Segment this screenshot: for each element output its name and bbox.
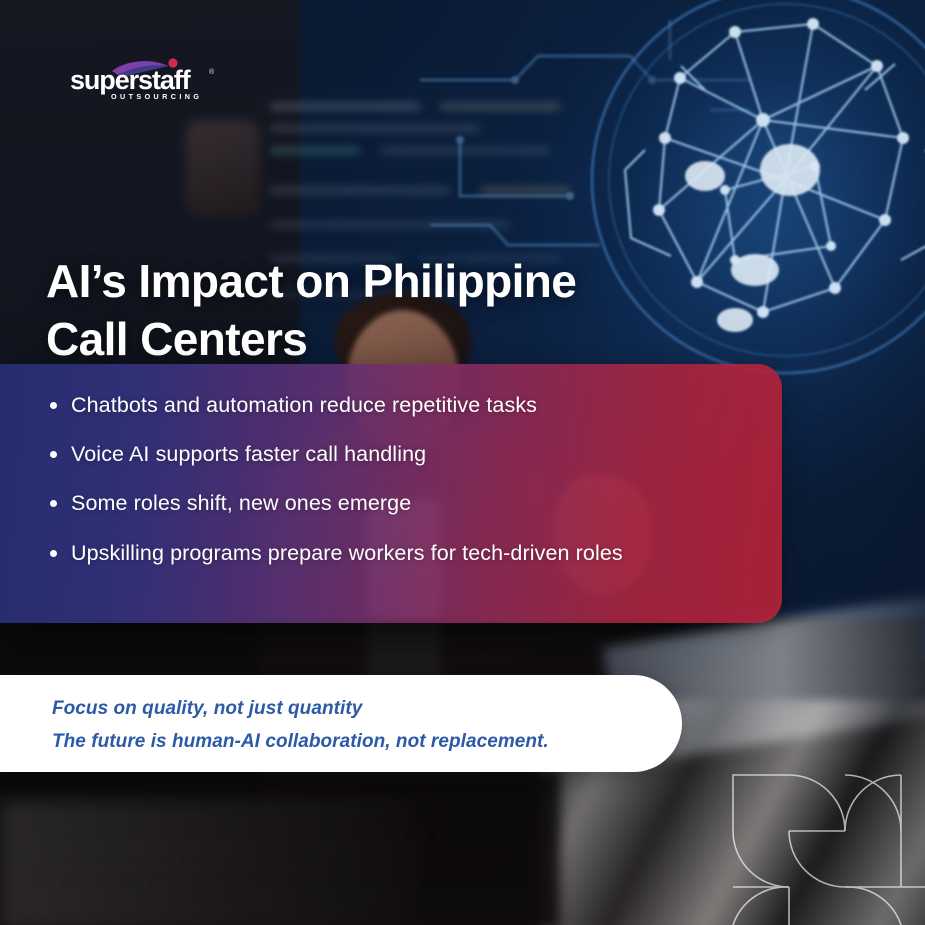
background-floor-highlight: [0, 800, 420, 925]
list-item: Chatbots and automation reduce repetitiv…: [48, 392, 760, 418]
svg-text:OUTSOURCING: OUTSOURCING: [111, 92, 202, 101]
takeaway-text-group: Focus on quality, not just quantity The …: [52, 693, 549, 758]
svg-text:®: ®: [209, 68, 215, 76]
key-points-list: Chatbots and automation reduce repetitiv…: [48, 392, 760, 566]
superstaff-logo[interactable]: superstaff ® OUTSOURCING: [68, 55, 238, 103]
quarter-arc-grid-pattern: [685, 735, 925, 925]
takeaway-card: Focus on quality, not just quantity The …: [0, 675, 682, 772]
list-item: Upskilling programs prepare workers for …: [48, 540, 760, 566]
svg-text:superstaff: superstaff: [70, 65, 192, 95]
key-points-panel: Chatbots and automation reduce repetitiv…: [0, 364, 782, 623]
list-item: Some roles shift, new ones emerge: [48, 490, 760, 516]
takeaway-line-2: The future is human-AI collaboration, no…: [52, 726, 549, 759]
takeaway-line-1: Focus on quality, not just quantity: [52, 693, 549, 726]
poster-canvas: superstaff ® OUTSOURCING AI’s Impact on …: [0, 0, 925, 925]
page-title: AI’s Impact on Philippine Call Centers: [46, 253, 626, 369]
list-item: Voice AI supports faster call handling: [48, 441, 760, 467]
